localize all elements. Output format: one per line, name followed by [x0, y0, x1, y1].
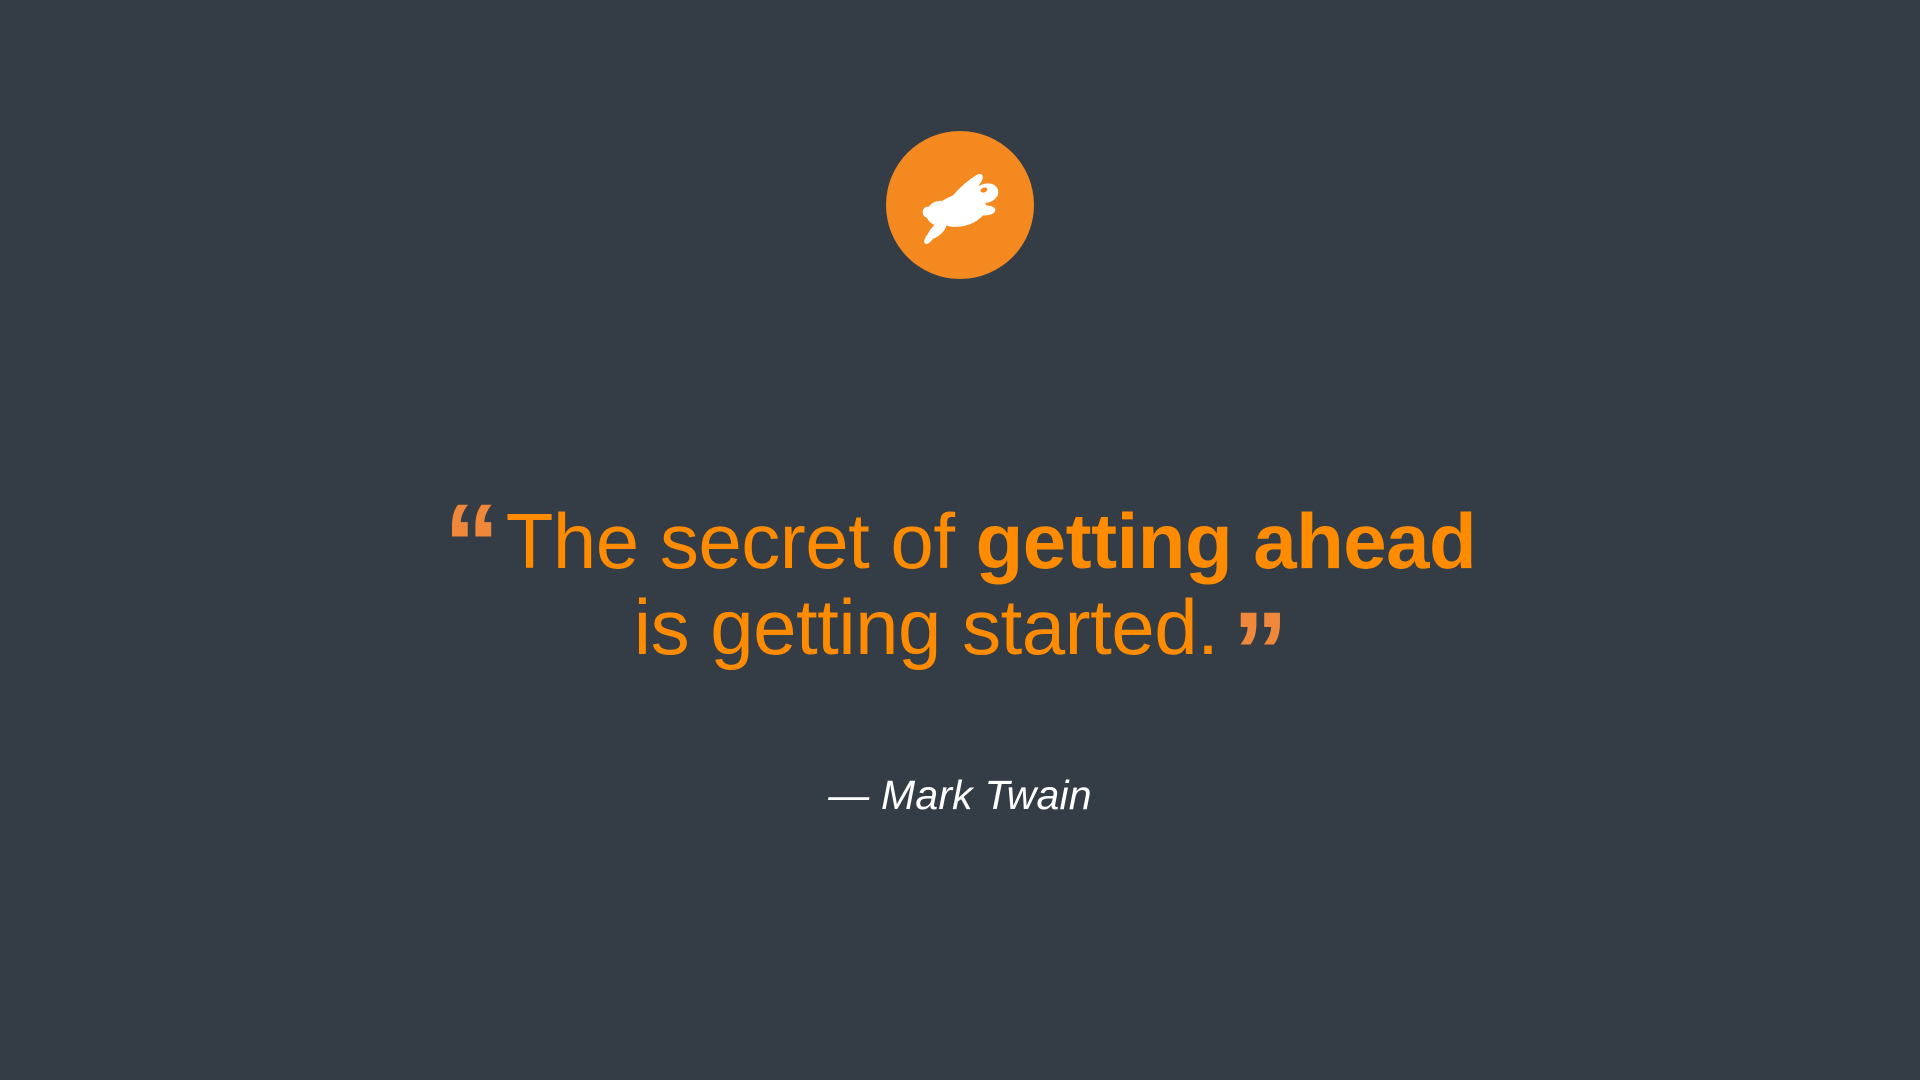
- quote-line-1-regular: The secret of: [506, 497, 976, 585]
- quote-line-1-bold: getting ahead: [976, 497, 1477, 585]
- quote-slide: “The secret of getting ahead is getting …: [0, 0, 1920, 1080]
- rabbit-icon: [908, 153, 1012, 257]
- quote-line-2-regular: is getting started.: [634, 583, 1219, 671]
- logo-container: [0, 131, 1920, 279]
- close-quote-mark: ”: [1232, 589, 1286, 714]
- quote-line-1: “The secret of getting ahead: [0, 498, 1920, 584]
- quote-block: “The secret of getting ahead is getting …: [0, 498, 1920, 670]
- logo-circle: [886, 131, 1034, 279]
- open-quote-mark: “: [444, 481, 498, 606]
- quote-attribution: — Mark Twain: [0, 772, 1920, 819]
- quote-line-2: is getting started.”: [0, 584, 1920, 670]
